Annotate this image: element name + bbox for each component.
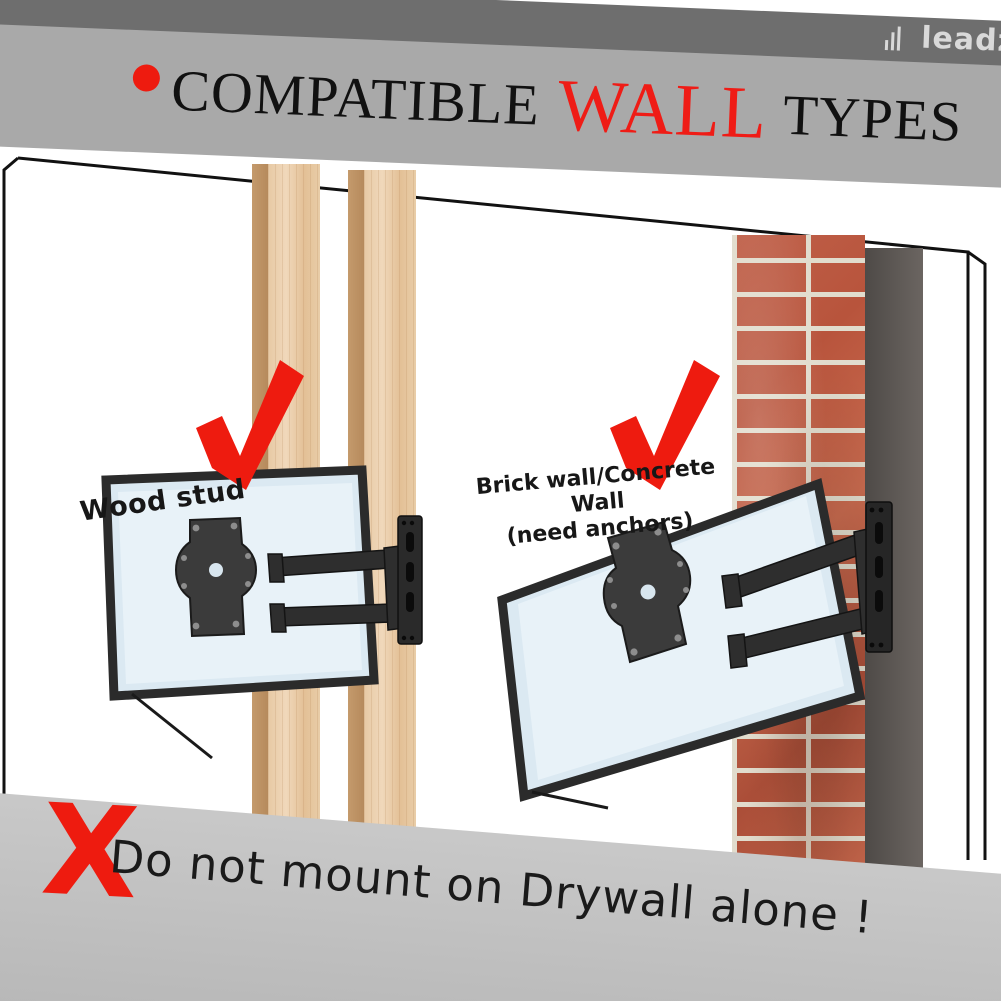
tv-cable (132, 694, 212, 758)
infographic-canvas: Wood stud Brick wall/Concrete Wall (need… (0, 0, 1001, 1001)
three-bars-icon (885, 26, 904, 51)
title-part-1: COMPATIBLE (170, 58, 541, 138)
tv-cable (532, 792, 608, 808)
brand-logo-text: leadzm (921, 20, 1001, 60)
title-part-2: TYPES (782, 84, 964, 154)
wall-plate-brick (866, 502, 892, 652)
wall-plate-wood (398, 516, 422, 644)
page-title: COMPATIBLEWALLTYPES (131, 46, 964, 165)
room-perspective-box: Wood stud Brick wall/Concrete Wall (need… (0, 140, 1001, 860)
red-dot-icon (132, 64, 160, 92)
title-highlight: WALL (556, 64, 769, 155)
